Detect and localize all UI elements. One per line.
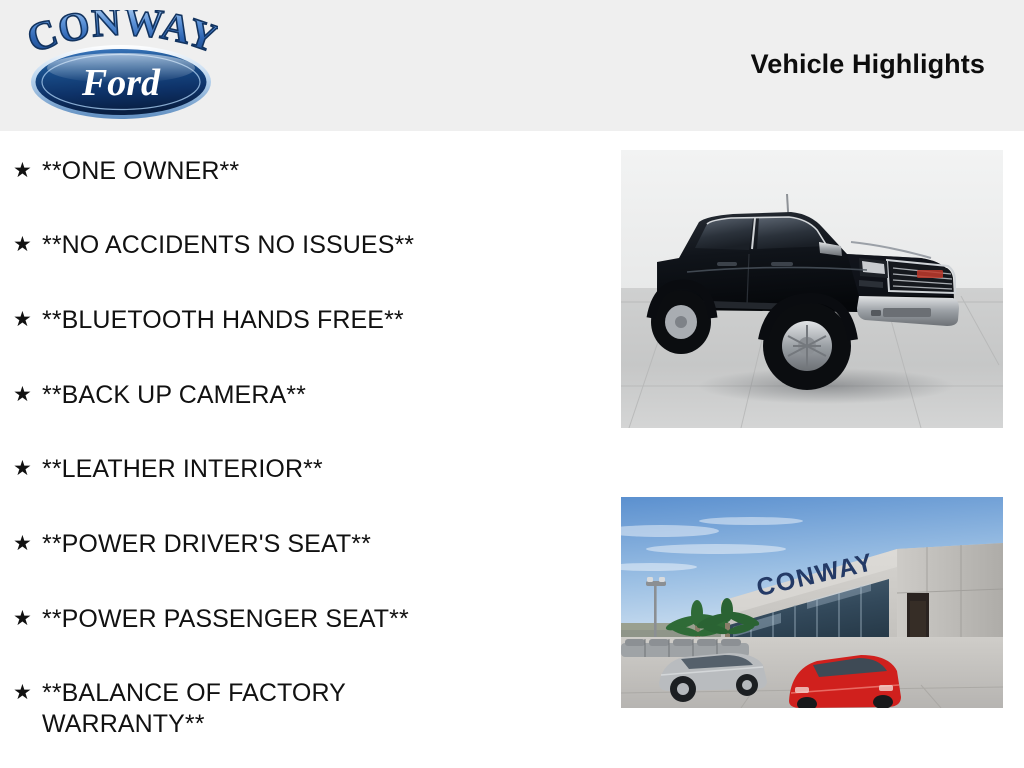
- dealership-photo[interactable]: CONWAY: [621, 497, 1003, 708]
- list-item-label: **ONE OWNER**: [42, 156, 573, 187]
- highlights-list: ★ **ONE OWNER** ★ **NO ACCIDENTS NO ISSU…: [0, 131, 600, 768]
- list-item: ★ **POWER DRIVER'S SEAT**: [13, 529, 573, 560]
- svg-text:CONWAY: CONWAY: [28, 10, 218, 61]
- star-icon: ★: [13, 156, 42, 186]
- list-item-label: **BALANCE OF FACTORY WARRANTY**: [42, 678, 433, 740]
- star-icon: ★: [13, 305, 42, 335]
- list-item: ★ **BLUETOOTH HANDS FREE**: [13, 305, 573, 336]
- star-icon: ★: [13, 230, 42, 260]
- star-icon: ★: [13, 454, 42, 484]
- list-item-label: **BLUETOOTH HANDS FREE**: [42, 305, 573, 336]
- svg-text:Ford: Ford: [81, 62, 161, 104]
- dealer-logo[interactable]: CONWAY: [22, 8, 222, 123]
- list-item-label: **POWER DRIVER'S SEAT**: [42, 529, 573, 560]
- star-icon: ★: [13, 380, 42, 410]
- list-item-label: **BACK UP CAMERA**: [42, 380, 573, 411]
- conway-wordmark-icon: CONWAY: [28, 10, 218, 62]
- vehicle-photo[interactable]: [621, 150, 1003, 428]
- list-item: ★ **BALANCE OF FACTORY WARRANTY**: [13, 678, 433, 740]
- list-item-label: **LEATHER INTERIOR**: [42, 454, 573, 485]
- star-icon: ★: [13, 604, 42, 634]
- list-item: ★ **POWER PASSENGER SEAT**: [13, 604, 573, 635]
- list-item-label: **POWER PASSENGER SEAT**: [42, 604, 573, 635]
- page-title: Vehicle Highlights: [751, 49, 985, 80]
- list-item: ★ **NO ACCIDENTS NO ISSUES**: [13, 230, 573, 261]
- list-item: ★ **BACK UP CAMERA**: [13, 380, 573, 411]
- star-icon: ★: [13, 529, 42, 559]
- list-item: ★ **LEATHER INTERIOR**: [13, 454, 573, 485]
- list-item-label: **NO ACCIDENTS NO ISSUES**: [42, 230, 573, 261]
- page-header: CONWAY: [0, 0, 1024, 131]
- vehicle-highlights-page: CONWAY: [0, 0, 1024, 768]
- star-icon: ★: [13, 678, 42, 708]
- list-item: ★ **ONE OWNER**: [13, 156, 573, 187]
